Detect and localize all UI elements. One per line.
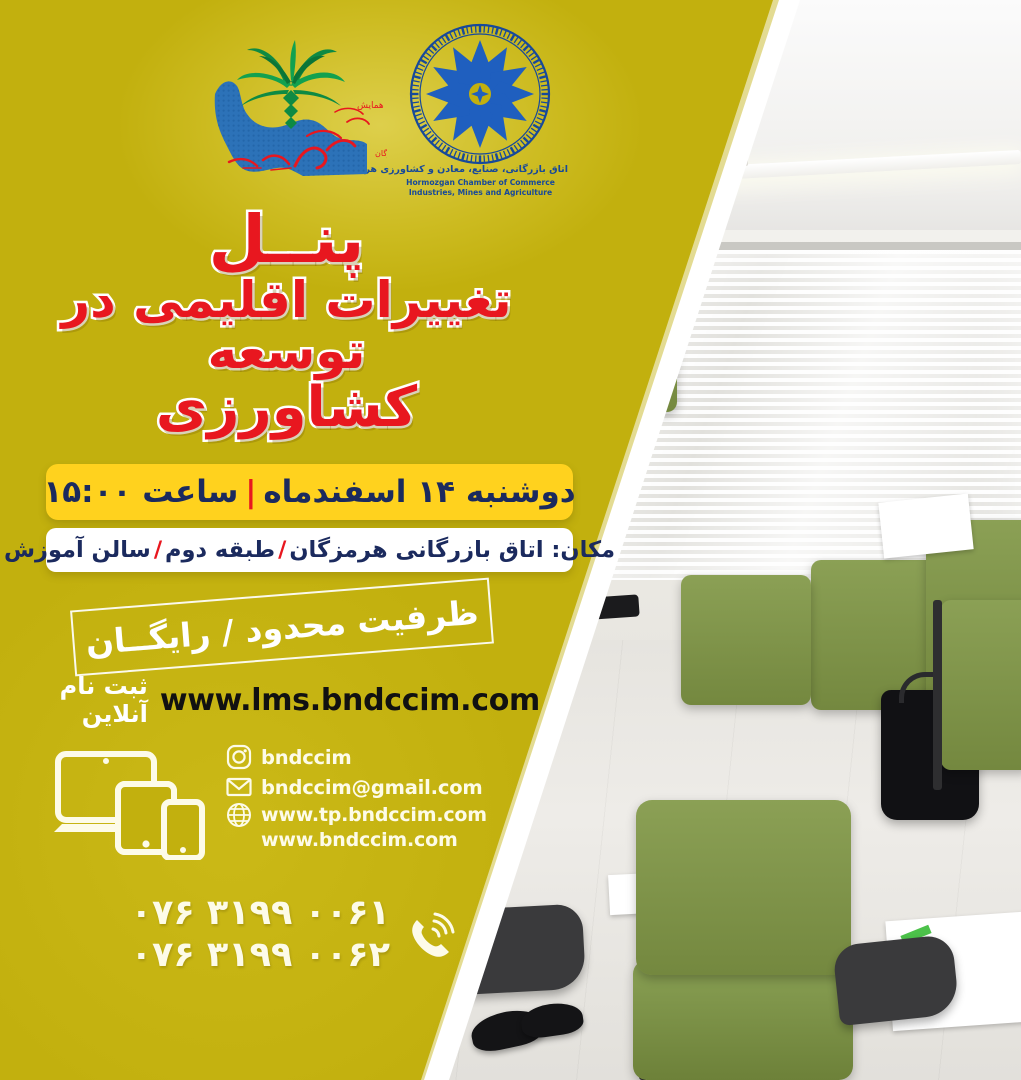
- event-time: ساعت ۱۵:۰۰: [43, 474, 238, 510]
- contact-website-tp[interactable]: www.tp.bndccim.com: [226, 802, 506, 827]
- globe-icon-spacer: [226, 827, 252, 853]
- contact-instagram[interactable]: bndccim: [226, 742, 506, 772]
- contact-website-main[interactable]: www.bndccim.com: [226, 827, 506, 852]
- venue-slash-1: /: [278, 537, 286, 563]
- event-date: دوشنبه ۱۴ اسفندماه: [263, 474, 575, 510]
- website-main: www.bndccim.com: [261, 829, 458, 851]
- title-line-2: تغییرات اقلیمی در توسعه: [0, 275, 573, 377]
- light-bracket: [736, 140, 748, 166]
- website-tp: www.tp.bndccim.com: [261, 804, 487, 826]
- online-registration: www.lms.bndccim.com ثبت نام آنلاین: [40, 677, 540, 723]
- paper-sheet: [878, 493, 973, 558]
- phone-ring-icon: [404, 911, 456, 963]
- instagram-icon: [226, 744, 252, 770]
- capacity-badge: ظرفیت محدود / رایگــان: [70, 578, 494, 677]
- ceiling-light: [711, 42, 763, 68]
- chamber-caption-fa: اتاق بازرگانی، صنایع، معادن و کشاورزی هر…: [393, 164, 568, 175]
- instagram-handle: bndccim: [261, 746, 352, 769]
- chair-leg: [933, 600, 942, 790]
- phone-numbers: ۰۷۶ ۳۱۹۹ ۰۰۶۱ ۰۷۶ ۳۱۹۹ ۰۰۶۲: [131, 893, 390, 975]
- venue-hall: سالن آموزش: [4, 537, 151, 563]
- conference-logo: اولین همایش استان هرمزگان: [207, 34, 387, 194]
- title-line-3: کشاورزی: [0, 379, 573, 436]
- phone-number-2: ۰۷۶ ۳۱۹۹ ۰۰۶۲: [131, 935, 404, 975]
- chair-back: [681, 575, 811, 705]
- conference-fa-top: اولین همایش: [357, 101, 387, 111]
- date-separator: |: [245, 475, 256, 510]
- contact-block: bndccim bndccim@gmail.com www.tp.bndccim…: [30, 742, 500, 864]
- phone-block: ۰۷۶ ۳۱۹۹ ۰۰۶۱ ۰۷۶ ۳۱۹۹ ۰۰۶۲: [36, 882, 456, 986]
- conference-fa-sub: استان هرمزگان: [375, 148, 387, 158]
- smartphone: [590, 594, 639, 619]
- email-address: bndccim@gmail.com: [261, 776, 483, 799]
- venue-bar: مکان: اتاق بازرگانی هرمزگان / طبقه دوم /…: [46, 528, 573, 572]
- venue-main: مکان: اتاق بازرگانی هرمزگان: [289, 537, 615, 563]
- contact-list: bndccim bndccim@gmail.com www.tp.bndccim…: [226, 742, 506, 852]
- envelope-icon: [226, 774, 252, 800]
- title-line-1: پنــل: [0, 206, 573, 273]
- event-poster: اتاق بازرگانی، صنایع، معادن و کشاورزی هر…: [0, 0, 1021, 1080]
- date-time-bar: دوشنبه ۱۴ اسفندماه | ساعت ۱۵:۰۰: [46, 464, 573, 520]
- chair-backrest: [636, 800, 851, 975]
- chair-seat: [633, 960, 853, 1080]
- chair-back: [941, 600, 1021, 770]
- registration-label: ثبت نام آنلاین: [40, 672, 148, 728]
- chair-back: [567, 292, 677, 412]
- globe-icon: [226, 802, 252, 828]
- poster-title: پنــل تغییرات اقلیمی در توسعه کشاورزی: [0, 206, 573, 436]
- chair-leg: [441, 980, 449, 1080]
- venue-floor: طبقه دوم: [165, 537, 275, 563]
- chamber-caption-en: Hormozgan Chamber of Commerce Industries…: [393, 178, 568, 197]
- capacity-text: ظرفیت محدود / رایگــان: [84, 592, 480, 662]
- phone-number-1: ۰۷۶ ۳۱۹۹ ۰۰۶۱: [131, 893, 390, 933]
- venue-slash-2: /: [154, 537, 162, 563]
- contact-email[interactable]: bndccim@gmail.com: [226, 772, 506, 802]
- registration-url[interactable]: www.lms.bndccim.com: [160, 683, 540, 718]
- chamber-of-commerce-logo: اتاق بازرگانی، صنایع، معادن و کشاورزی هر…: [393, 22, 568, 200]
- laptop-tablet-phone-icon: [52, 748, 212, 860]
- palm-map-icon: اولین همایش استان هرمزگان: [207, 34, 387, 194]
- chamber-emblem-icon: [393, 22, 568, 167]
- logo-row: اتاق بازرگانی، صنایع، معادن و کشاورزی هر…: [188, 22, 568, 202]
